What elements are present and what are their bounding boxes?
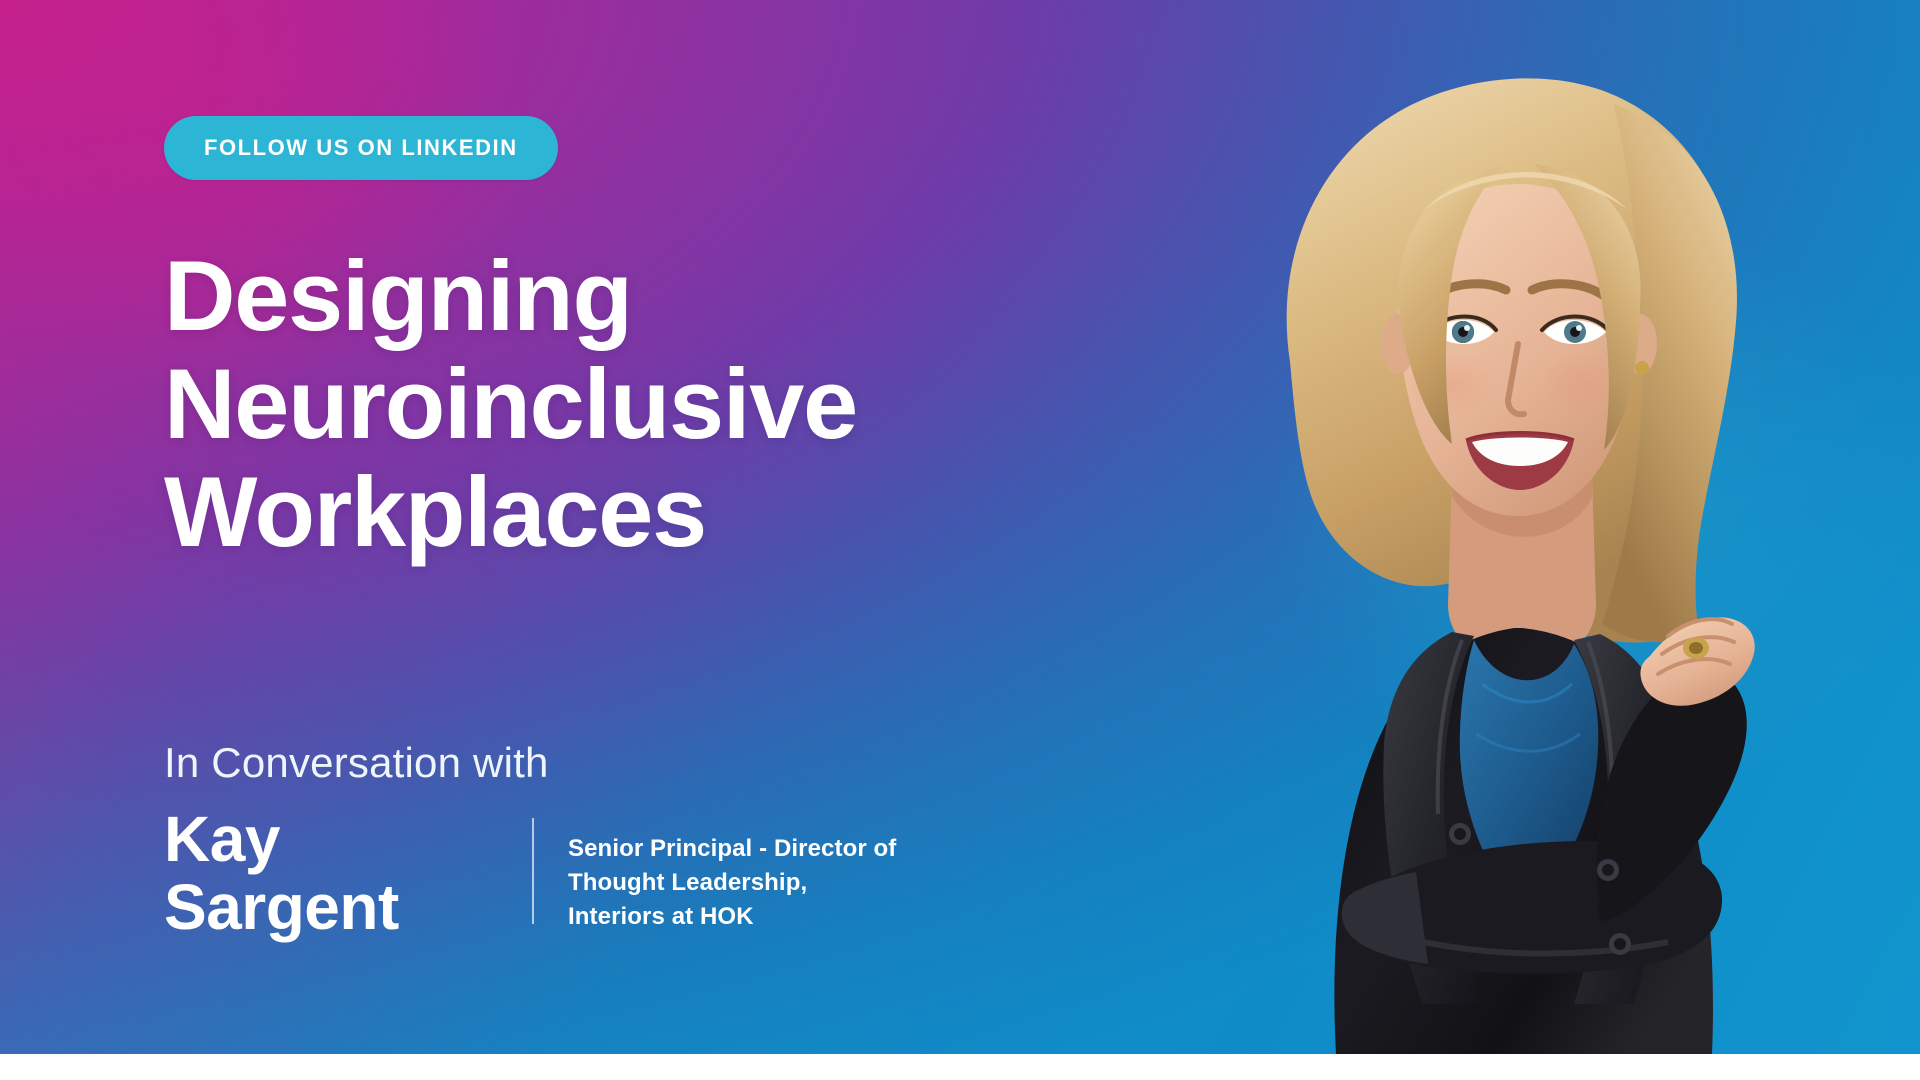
speaker-name-line-2: Sargent xyxy=(164,874,532,942)
bottom-white-strip xyxy=(0,1054,1920,1080)
speaker-job-title-line-1: Senior Principal - Director of xyxy=(568,832,896,866)
vertical-divider xyxy=(532,818,534,924)
speaker-portrait-photo xyxy=(1122,44,1882,1054)
headline-line-2: Neuroinclusive xyxy=(164,350,1164,458)
speaker-job-title-line-2: Thought Leadership, xyxy=(568,866,896,900)
speaker-name: Kay Sargent xyxy=(164,806,532,942)
speaker-name-line-1: Kay xyxy=(164,806,532,874)
follow-us-badge-label: FOLLOW US ON LINKEDIN xyxy=(204,137,518,159)
speaker-job-title: Senior Principal - Director of Thought L… xyxy=(568,806,896,934)
speaker-details-row: Kay Sargent Senior Principal - Director … xyxy=(164,806,1164,942)
headline-line-3: Workplaces xyxy=(164,458,1164,566)
conversation-intro-label: In Conversation with xyxy=(164,740,1164,786)
earring-right xyxy=(1635,361,1649,375)
headline-line-1: Designing xyxy=(164,242,1164,350)
speaker-block: In Conversation with Kay Sargent Senior … xyxy=(164,740,1164,942)
page-title: Designing Neuroinclusive Workplaces xyxy=(164,242,1164,566)
content-column: FOLLOW US ON LINKEDIN Designing Neuroinc… xyxy=(164,0,1164,1054)
follow-us-badge[interactable]: FOLLOW US ON LINKEDIN xyxy=(164,116,558,180)
linkedin-promo-banner: FOLLOW US ON LINKEDIN Designing Neuroinc… xyxy=(0,0,1920,1080)
speaker-job-title-line-3: Interiors at HOK xyxy=(568,900,896,934)
